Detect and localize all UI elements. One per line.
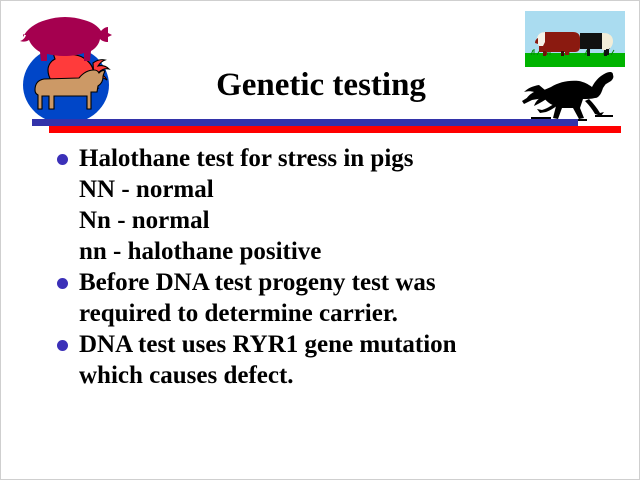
list-item-label: required to determine carrier. xyxy=(79,298,629,329)
list-item: DNA test uses RYR1 gene mutation xyxy=(53,329,629,360)
pig-icon xyxy=(20,17,112,61)
list-item: Nn - normal xyxy=(53,205,629,236)
list-item-label: Nn - normal xyxy=(79,205,629,236)
horse-shape xyxy=(522,72,613,121)
list-item-label: Halothane test for stress in pigs xyxy=(79,143,629,174)
bullet-icon xyxy=(57,154,68,165)
list-item: Halothane test for stress in pigs xyxy=(53,143,629,174)
galloping-horse-silhouette xyxy=(517,65,629,125)
list-item: nn - halothane positive xyxy=(53,236,629,267)
farm-animals-logo xyxy=(11,7,121,125)
cattle-pasture-photo xyxy=(525,11,625,67)
list-item-label: NN - normal xyxy=(79,174,629,205)
divider-bar-blue xyxy=(32,119,578,126)
list-item-label: Before DNA test progeny test was xyxy=(79,267,629,298)
slide-body: Halothane test for stress in pigs NN - n… xyxy=(53,143,629,391)
list-item-continuation: required to determine carrier. xyxy=(53,298,629,329)
page-title: Genetic testing xyxy=(121,65,521,105)
bullet-icon xyxy=(57,340,68,351)
bullet-icon xyxy=(57,278,68,289)
list-item-label: nn - halothane positive xyxy=(79,236,629,267)
divider-bar-red xyxy=(49,126,621,133)
list-item-label: which causes defect. xyxy=(79,360,629,391)
list-item: NN - normal xyxy=(53,174,629,205)
list-item-label: DNA test uses RYR1 gene mutation xyxy=(79,329,629,360)
list-item-continuation: which causes defect. xyxy=(53,360,629,391)
list-item: Before DNA test progeny test was xyxy=(53,267,629,298)
presentation-slide: Genetic testing Halothane test for stres… xyxy=(0,0,640,480)
